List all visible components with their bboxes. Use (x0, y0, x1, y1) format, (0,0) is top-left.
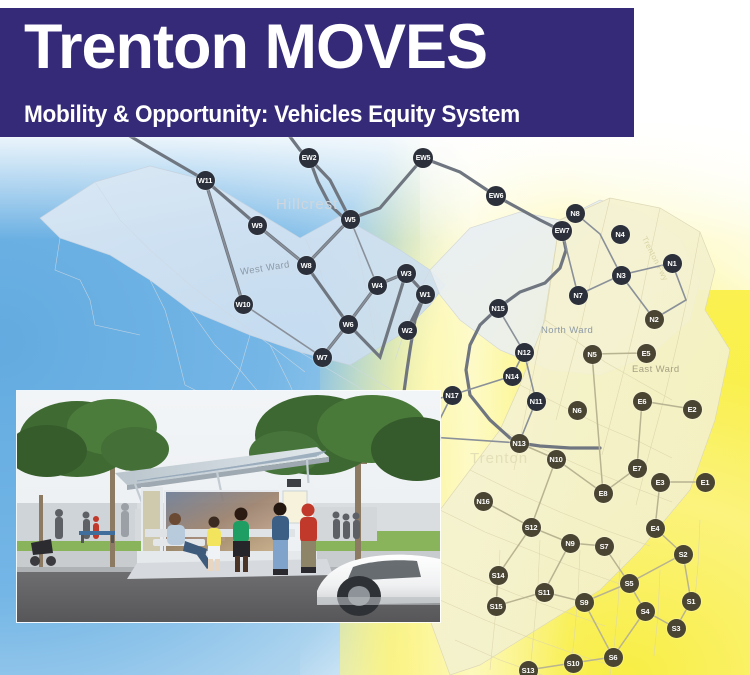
map-node-w11[interactable]: W11 (196, 171, 215, 190)
map-node-n14[interactable]: N14 (503, 367, 522, 386)
map-node-n10[interactable]: N10 (547, 450, 566, 469)
map-node-w3[interactable]: W3 (397, 264, 416, 283)
map-node-w5[interactable]: W5 (341, 210, 360, 229)
map-node-s1[interactable]: S1 (682, 592, 701, 611)
map-node-n16[interactable]: N16 (474, 492, 493, 511)
map-node-s5[interactable]: S5 (620, 574, 639, 593)
map-node-n9[interactable]: N9 (561, 534, 580, 553)
map-node-n8[interactable]: N8 (566, 204, 585, 223)
map-node-n1[interactable]: N1 (663, 254, 682, 273)
park-bench (79, 531, 115, 535)
map-node-n4[interactable]: N4 (611, 225, 630, 244)
map-node-n7[interactable]: N7 (569, 286, 588, 305)
map-node-s10[interactable]: S10 (564, 654, 583, 673)
map-node-n12[interactable]: N12 (515, 343, 534, 362)
map-node-n15[interactable]: N15 (489, 299, 508, 318)
map-node-n2[interactable]: N2 (645, 310, 664, 329)
map-node-w4[interactable]: W4 (368, 276, 387, 295)
map-node-s3[interactable]: S3 (667, 619, 686, 638)
page-subtitle: Mobility & Opportunity: Vehicles Equity … (24, 100, 520, 130)
map-node-w8[interactable]: W8 (297, 256, 316, 275)
map-node-ew7[interactable]: EW7 (552, 221, 572, 241)
map-node-s6[interactable]: S6 (604, 648, 623, 667)
title-banner: Trenton MOVES Mobility & Opportunity: Ve… (0, 8, 634, 137)
map-node-s12[interactable]: S12 (522, 518, 541, 537)
map-node-ew2[interactable]: EW2 (299, 148, 319, 168)
map-node-s4[interactable]: S4 (636, 602, 655, 621)
map-node-e2[interactable]: E2 (683, 400, 702, 419)
map-node-e6[interactable]: E6 (633, 392, 652, 411)
map-node-w6[interactable]: W6 (339, 315, 358, 334)
map-node-n6[interactable]: N6 (568, 401, 587, 420)
poster-root: Hillcrest Trenton West Ward North Ward E… (0, 0, 750, 675)
map-node-ew5[interactable]: EW5 (413, 148, 433, 168)
map-node-s2[interactable]: S2 (674, 545, 693, 564)
map-node-n11[interactable]: N11 (527, 392, 546, 411)
mobility-hub-rendering (17, 391, 440, 622)
map-node-e1[interactable]: E1 (696, 473, 715, 492)
map-node-w10[interactable]: W10 (234, 295, 253, 314)
map-node-s14[interactable]: S14 (489, 566, 508, 585)
map-node-e4[interactable]: E4 (646, 519, 665, 538)
map-node-e7[interactable]: E7 (628, 459, 647, 478)
map-node-s9[interactable]: S9 (575, 593, 594, 612)
map-node-e3[interactable]: E3 (651, 473, 670, 492)
page-title: Trenton MOVES (24, 10, 487, 84)
map-node-ew6[interactable]: EW6 (486, 186, 506, 206)
map-node-e8[interactable]: E8 (594, 484, 613, 503)
map-node-n17[interactable]: N17 (443, 386, 462, 405)
map-node-s7[interactable]: S7 (595, 537, 614, 556)
map-node-s13[interactable]: S13 (519, 661, 538, 675)
map-node-n5[interactable]: N5 (583, 345, 602, 364)
map-node-w9[interactable]: W9 (248, 216, 267, 235)
map-node-n13[interactable]: N13 (510, 434, 529, 453)
map-node-w2[interactable]: W2 (398, 321, 417, 340)
tree-left (17, 399, 169, 477)
map-node-w1[interactable]: W1 (416, 285, 435, 304)
map-node-s11[interactable]: S11 (535, 583, 554, 602)
map-node-w7[interactable]: W7 (313, 348, 332, 367)
map-node-n3[interactable]: N3 (612, 266, 631, 285)
map-node-e5[interactable]: E5 (637, 344, 656, 363)
map-node-s15[interactable]: S15 (487, 597, 506, 616)
rendering-artwork (17, 391, 440, 622)
